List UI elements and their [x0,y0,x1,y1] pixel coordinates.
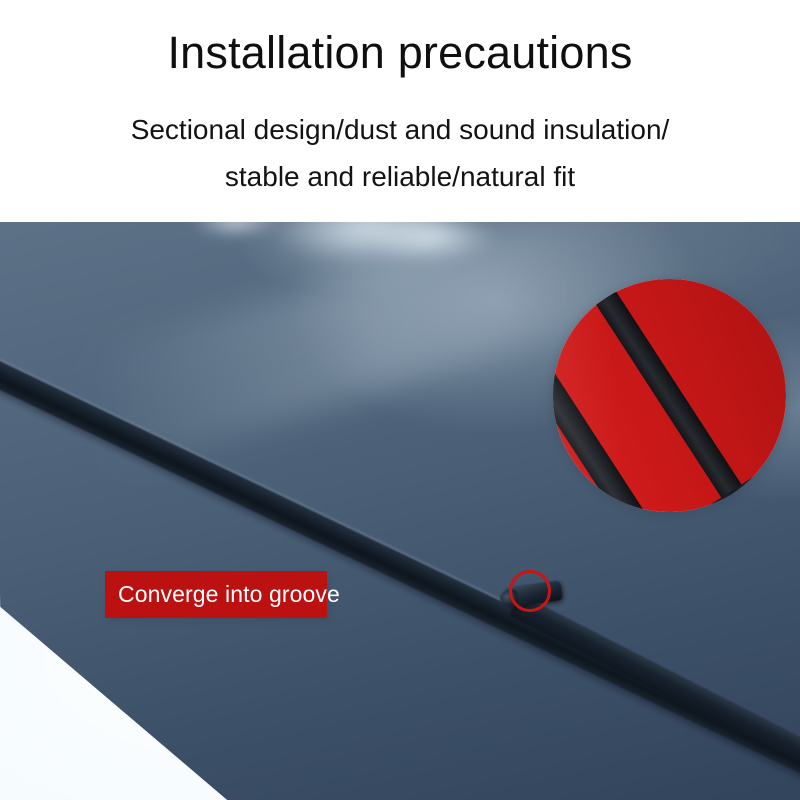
subtitle-line-2: stable and reliable/natural fit [0,153,800,200]
callout-label-text: Converge into groove [118,581,340,608]
header-text-block: Installation precautions Sectional desig… [0,0,800,222]
product-infographic-page: Installation precautions Sectional desig… [0,0,800,800]
panel-highlight-spot-3 [191,222,281,239]
inset-seal-cross-section [553,279,786,512]
product-photo: Converge into groove [0,222,800,800]
magnified-detail-inset [553,279,786,512]
panel-highlight-spot-2 [366,222,497,263]
subtitle-line-1: Sectional design/dust and sound insulati… [0,106,800,153]
page-title: Installation precautions [0,26,800,80]
panel-highlight-spot-1 [266,222,467,264]
subtitle-block: Sectional design/dust and sound insulati… [0,106,800,200]
callout-label-box: Converge into groove [105,571,327,618]
red-circle-highlight-icon [509,570,551,612]
